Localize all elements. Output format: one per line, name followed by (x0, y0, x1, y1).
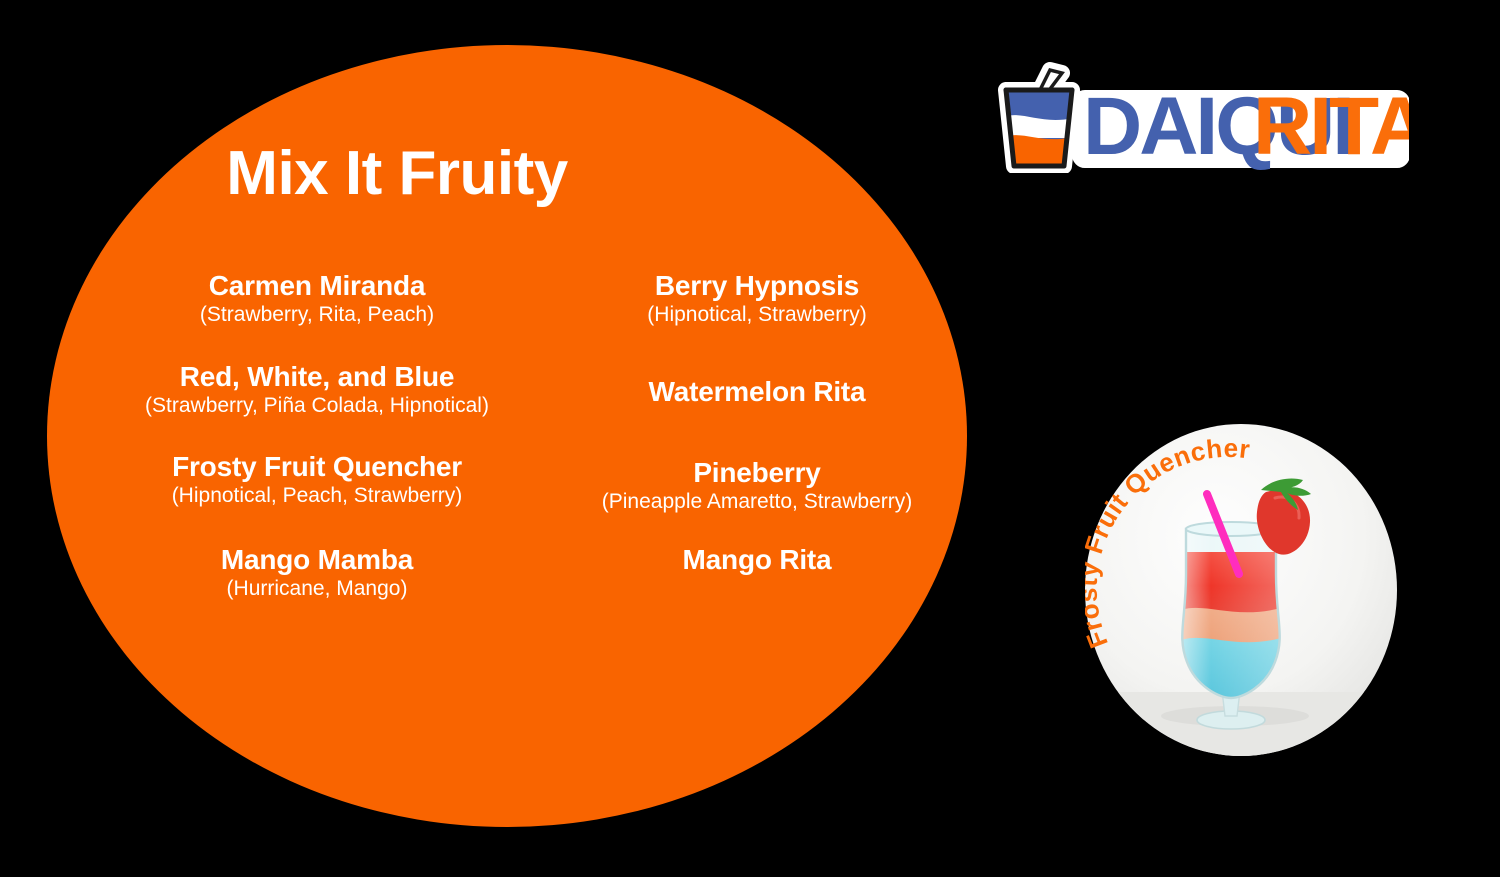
drink-item: Pineberry (Pineapple Amaretto, Strawberr… (557, 457, 957, 515)
menu-content: Mix It Fruity Carmen Miranda (Strawberry… (47, 45, 967, 827)
drink-name: Mango Mamba (67, 544, 567, 575)
drink-name: Berry Hypnosis (557, 270, 957, 301)
drink-name: Pineberry (557, 457, 957, 488)
drink-item: Berry Hypnosis (Hipnotical, Strawberry) (557, 270, 957, 328)
product-photo-badge: Frosty Fruit Quencher (1085, 424, 1397, 756)
drink-item: Red, White, and Blue (Strawberry, Piña C… (67, 361, 567, 419)
brand-name-part-two: RITAS (1253, 81, 1409, 172)
drink-ingredients: (Strawberry, Piña Colada, Hipnotical) (67, 394, 567, 418)
drink-ingredients: (Hurricane, Mango) (67, 577, 567, 601)
drink-name: Red, White, and Blue (67, 361, 567, 392)
drink-name: Carmen Miranda (67, 270, 567, 301)
drink-name: Frosty Fruit Quencher (67, 451, 567, 482)
page-title: Mix It Fruity (47, 143, 747, 205)
drink-item: Watermelon Rita (557, 376, 957, 407)
drink-item: Frosty Fruit Quencher (Hipnotical, Peach… (67, 451, 567, 509)
drink-ingredients: (Hipnotical, Peach, Strawberry) (67, 484, 567, 508)
drink-ingredients: (Pineapple Amaretto, Strawberry) (557, 490, 957, 514)
drink-list-left-column: Carmen Miranda (Strawberry, Rita, Peach)… (67, 270, 567, 601)
drink-item: Mango Rita (557, 544, 957, 575)
poster-canvas: Mix It Fruity Carmen Miranda (Strawberry… (0, 0, 1500, 877)
brand-logo: DAIQUI RITAS (984, 58, 1409, 173)
drink-list-right-column: Berry Hypnosis (Hipnotical, Strawberry) … (557, 270, 957, 576)
drink-item: Mango Mamba (Hurricane, Mango) (67, 544, 567, 602)
drink-ingredients: (Strawberry, Rita, Peach) (67, 303, 567, 327)
drink-name: Watermelon Rita (557, 376, 957, 407)
drink-name: Mango Rita (557, 544, 957, 575)
drink-ingredients: (Hipnotical, Strawberry) (557, 303, 957, 327)
drink-item: Carmen Miranda (Strawberry, Rita, Peach) (67, 270, 567, 328)
